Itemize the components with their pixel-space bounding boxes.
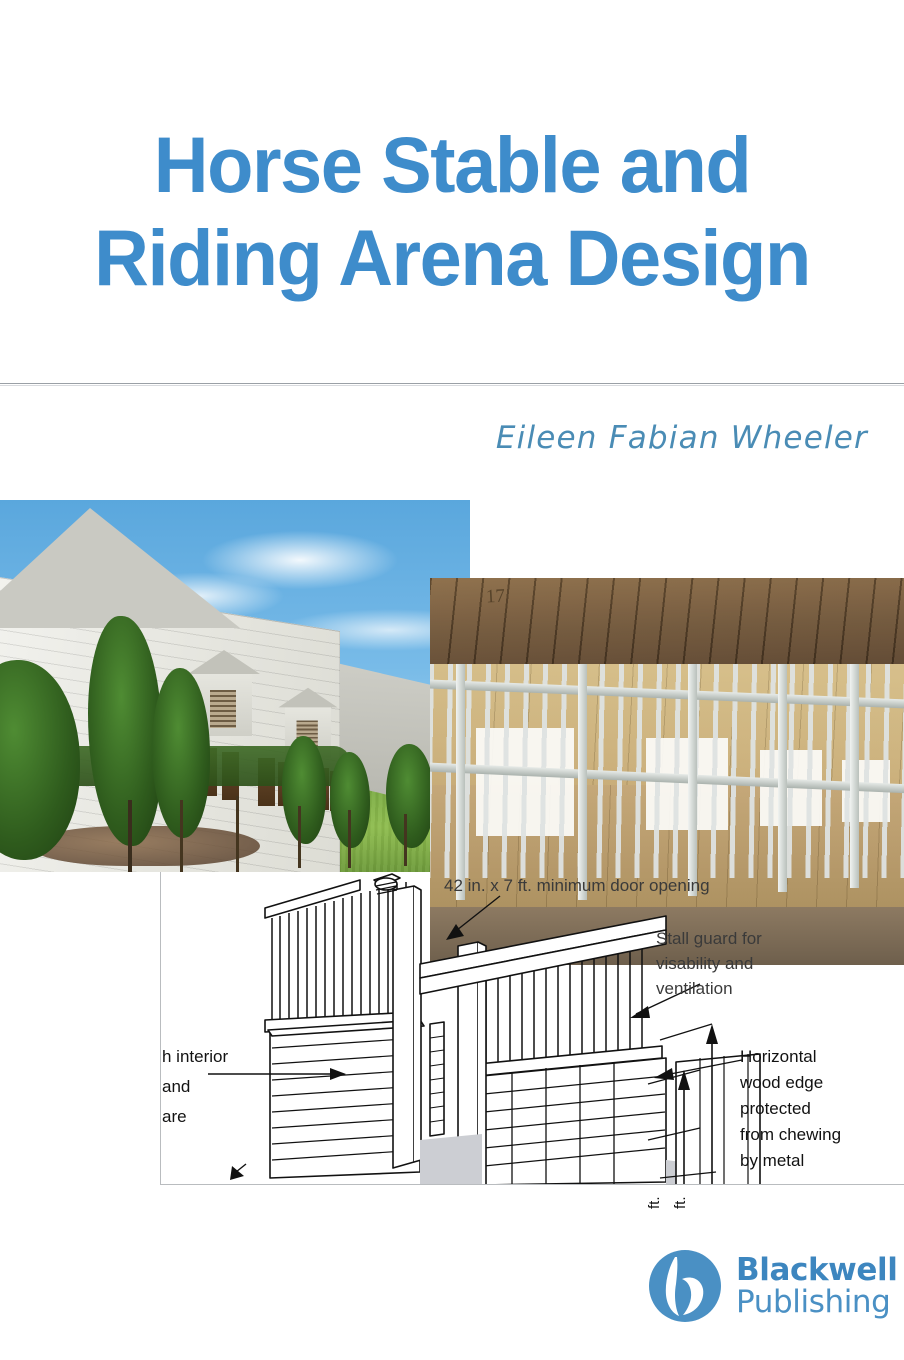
sapling-trunk (348, 810, 351, 868)
book-cover: Horse Stable and Riding Arena Design Eil… (0, 0, 904, 1360)
barn-gable (0, 508, 240, 628)
sapling-trunk (236, 796, 239, 872)
publisher-logo: Blackwell Publishing (648, 1238, 884, 1334)
publisher-subtitle: Publishing (736, 1286, 897, 1318)
title-divider-rule (0, 383, 904, 384)
title-divider-rule-shadow (0, 385, 904, 386)
sapling-trunk (298, 806, 301, 868)
title-line-2: Riding Arena Design (18, 211, 886, 304)
dimension-label-2: ft. (669, 1196, 692, 1209)
blackwell-mark-svg (648, 1249, 722, 1323)
publisher-text: Blackwell Publishing (736, 1254, 897, 1318)
annotation-door-opening: 42 in. x 7 ft. minimum door opening (444, 874, 710, 897)
author-name: Eileen Fabian Wheeler (0, 420, 904, 456)
annotation-stall-guard: Stall guard for visability and ventilati… (656, 926, 762, 1001)
title-line-1: Horse Stable and (18, 118, 886, 211)
photo-stable-exterior (0, 500, 470, 872)
stall-number: 17 (485, 586, 505, 609)
tree (386, 744, 434, 848)
dimension-label-1: ft. (643, 1196, 666, 1209)
tree (282, 736, 326, 844)
annotation-left-note: h interior and are (162, 1042, 228, 1132)
sapling-trunk (404, 814, 407, 866)
annotation-horizontal-wood: Horizontal wood edge protected from chew… (740, 1044, 841, 1174)
publisher-name: Blackwell (736, 1254, 897, 1286)
sapling-trunk (180, 800, 183, 872)
title-block: Horse Stable and Riding Arena Design (0, 118, 904, 304)
blackwell-b-icon (648, 1249, 722, 1323)
tree-trunk (128, 800, 132, 872)
